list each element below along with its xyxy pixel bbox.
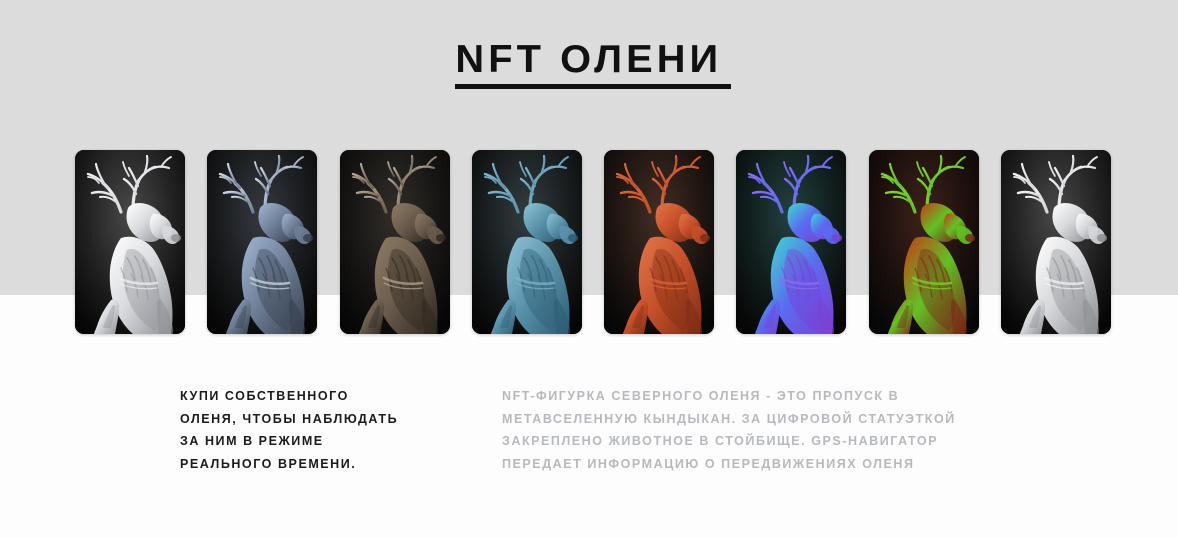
nft-deer-gallery — [75, 150, 1111, 334]
description-right-line-3: ЗАКРЕПЛЕНО ЖИВОТНОЕ В СТОЙБИЩЕ. GPS-НАВИ… — [502, 430, 1002, 453]
nft-card-deer-silver-chrome[interactable] — [1001, 150, 1111, 334]
nft-card-deer-iridescent[interactable] — [736, 150, 846, 334]
nft-card-deer-steel-blue[interactable] — [472, 150, 582, 334]
page-title: NFT ОЛЕНИ — [456, 38, 723, 82]
description-left-line-3: ЗА НИМ В РЕЖИМЕ — [180, 430, 440, 453]
nft-card-deer-white-marble[interactable] — [75, 150, 185, 334]
description-left-line-1: КУПИ СОБСТВЕННОГО — [180, 385, 440, 408]
description-right-line-2: МЕТАВСЕЛЕННУЮ КЫНДЫКАН. ЗА ЦИФРОВОЙ СТАТ… — [502, 408, 1002, 431]
deer-figure-svg — [604, 150, 714, 334]
description-left-line-2: ОЛЕНЯ, ЧТОБЫ НАБЛЮДАТЬ — [180, 408, 440, 431]
description-right-line-1: NFT-ФИГУРКА СЕВЕРНОГО ОЛЕНЯ - ЭТО ПРОПУС… — [502, 385, 1002, 408]
nft-card-deer-silver-blue[interactable] — [207, 150, 317, 334]
title-underline — [455, 84, 731, 89]
description-right-line-4: ПЕРЕДАЕТ ИНФОРМАЦИЮ О ПЕРЕДВИЖЕНИЯХ ОЛЕН… — [502, 453, 1002, 476]
nft-deer-page: NFT ОЛЕНИ — [0, 0, 1178, 538]
deer-figure-svg — [736, 150, 846, 334]
description-left: КУПИ СОБСТВЕННОГООЛЕНЯ, ЧТОБЫ НАБЛЮДАТЬЗ… — [180, 385, 440, 475]
page-title-wrapper: NFT ОЛЕНИ — [0, 38, 1178, 82]
deer-figure-svg — [1001, 150, 1111, 334]
deer-figure-svg — [472, 150, 582, 334]
deer-figure-svg — [869, 150, 979, 334]
description-right: NFT-ФИГУРКА СЕВЕРНОГО ОЛЕНЯ - ЭТО ПРОПУС… — [502, 385, 1002, 475]
nft-card-deer-green-red[interactable] — [869, 150, 979, 334]
nft-card-deer-bronze-dark[interactable] — [340, 150, 450, 334]
deer-figure-svg — [207, 150, 317, 334]
deer-figure-svg — [340, 150, 450, 334]
nft-card-deer-terracotta[interactable] — [604, 150, 714, 334]
description-left-line-4: РЕАЛЬНОГО ВРЕМЕНИ. — [180, 453, 440, 476]
deer-figure-svg — [75, 150, 185, 334]
